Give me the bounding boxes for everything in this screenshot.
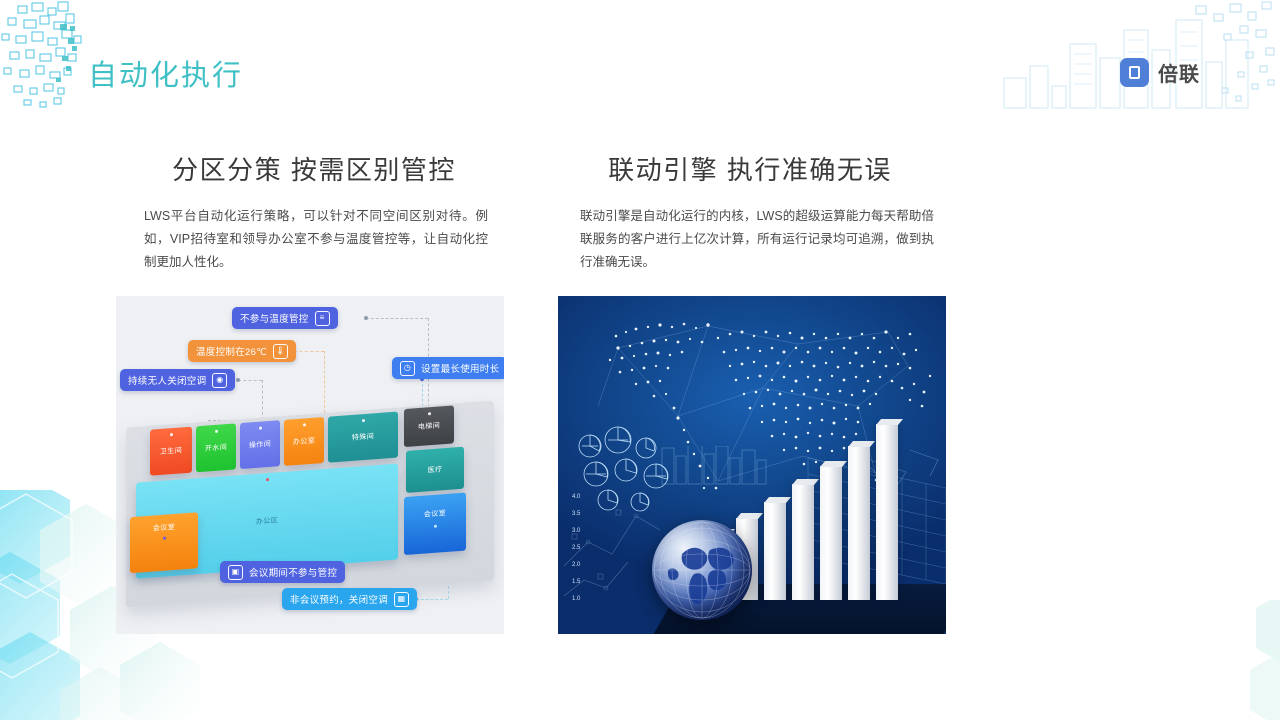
column-zone-policy: 分区分策 按需区别管控 LWS平台自动化运行策略，可以针对不同空间区别对待。例如… xyxy=(116,150,506,274)
projector-icon: ▣ xyxy=(228,565,243,580)
connector-line xyxy=(416,599,448,600)
column-body-text: LWS平台自动化运行策略，可以针对不同空间区别对待。例如，VIP招待室和领导办公… xyxy=(116,205,506,274)
bar xyxy=(764,502,786,600)
room-meeting-1: 会议室 xyxy=(130,512,198,573)
column-heading: 分区分策 按需区别管控 xyxy=(116,150,506,187)
column-linkage-engine: 联动引擎 执行准确无误 联动引擎是自动化运行的内核，LWS的超级运算能力每天帮助… xyxy=(558,150,948,274)
clock-icon: ◷ xyxy=(400,361,415,376)
badge-no-booking-off-ac[interactable]: 非会议预约，关闭空调 ▦ xyxy=(282,588,417,610)
page-title: 自动化执行 xyxy=(88,52,243,94)
badge-label: 会议期间不参与管控 xyxy=(249,565,337,579)
column-heading: 联动引擎 执行准确无误 xyxy=(558,150,948,187)
brand-logo: 倍联 xyxy=(1120,58,1200,87)
column-body-text: 联动引擎是自动化运行的内核，LWS的超级运算能力每天帮助倍联服务的客户进行上亿次… xyxy=(558,205,948,274)
room-elevator: 电梯间 xyxy=(404,405,454,447)
rounded-square-logo-icon xyxy=(1120,58,1149,87)
badge-label: 非会议预约，关闭空调 xyxy=(290,592,388,606)
document-lines-icon: ≡ xyxy=(315,311,330,326)
globe-3d xyxy=(652,520,752,620)
room-restroom: 卫生间 xyxy=(150,427,192,476)
room-special-room: 特殊间 xyxy=(328,412,398,463)
zone-control-diagram-image: 卫生间 开水间 操作间 办公室 特殊间 电梯间 医疗 xyxy=(116,296,504,634)
bar xyxy=(792,484,814,600)
slide-header: 自动化执行 倍联 xyxy=(0,0,1280,115)
badge-max-usage-time[interactable]: ◷ 设置最长使用时长 xyxy=(392,357,504,379)
hexagon-decoration-bottom-right xyxy=(1220,600,1280,720)
bar xyxy=(820,466,842,600)
badge-meeting-exempt[interactable]: ▣ 会议期间不参与管控 xyxy=(220,561,345,583)
badge-label: 温度控制在26℃ xyxy=(196,344,267,358)
calendar-icon: ▦ xyxy=(394,592,409,607)
connector-dot xyxy=(364,316,368,320)
room-office-room: 办公室 xyxy=(284,417,324,466)
badge-unmanned-off-ac[interactable]: 持续无人关闭空调 ◉ xyxy=(120,369,235,391)
connector-line xyxy=(262,380,263,420)
connector-line xyxy=(366,318,428,319)
axis-tick-labels: 4.0 3.5 3.0 2.5 2.0 1.5 1.0 xyxy=(572,494,612,614)
connector-line xyxy=(238,380,262,381)
slide-canvas: 自动化执行 倍联 分区分策 按需区别管控 LWS平台自动化运行策略，可以针对不同… xyxy=(0,0,1280,720)
room-clinic: 医疗 xyxy=(406,447,464,493)
room-meeting-2: 会议室 xyxy=(404,493,466,556)
badge-label: 设置最长使用时长 xyxy=(421,361,499,375)
room-ops-room: 操作间 xyxy=(240,420,280,469)
bar xyxy=(876,424,898,600)
data-analytics-image: 4.0 3.5 3.0 2.5 2.0 1.5 1.0 xyxy=(558,296,946,634)
badge-label: 不参与温度管控 xyxy=(240,311,309,325)
connector-dot xyxy=(236,378,240,382)
badge-label: 持续无人关闭空调 xyxy=(128,373,206,387)
badge-temp-26[interactable]: 温度控制在26℃ 🌡 xyxy=(188,340,296,362)
connector-line xyxy=(294,351,324,352)
bar xyxy=(848,446,870,600)
thermometer-icon: 🌡 xyxy=(273,344,288,359)
motion-sensor-icon: ◉ xyxy=(212,373,227,388)
badge-no-temp-control[interactable]: 不参与温度管控 ≡ xyxy=(232,307,338,329)
room-water-room: 开水间 xyxy=(196,423,236,472)
brand-name: 倍联 xyxy=(1158,58,1200,87)
